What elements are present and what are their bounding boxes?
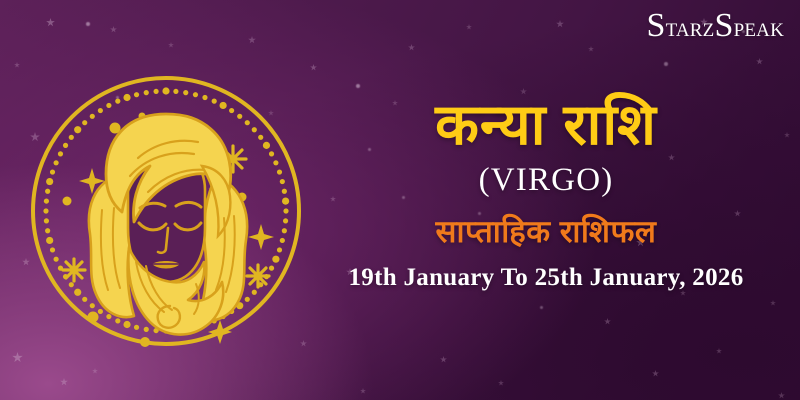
zodiac-title-hindi: कन्या राशि — [300, 96, 792, 156]
maiden-figure — [89, 114, 247, 335]
background-star — [408, 44, 415, 51]
background-star-dot — [356, 84, 360, 88]
background-star-dot — [540, 306, 543, 309]
background-star — [588, 46, 594, 52]
virgo-maiden-icon — [30, 70, 302, 352]
background-star-dot — [664, 62, 668, 66]
headline-block: कन्या राशि (VIRGO) साप्ताहिक राशिफल 19th… — [300, 96, 792, 292]
background-star — [14, 62, 20, 68]
background-star — [22, 258, 30, 266]
background-star — [310, 64, 317, 71]
background-star — [498, 380, 504, 386]
background-star-dot — [86, 22, 90, 26]
logo-s2: S — [714, 7, 733, 44]
background-star — [716, 348, 722, 354]
background-star — [556, 20, 564, 28]
zodiac-title-english: (VIRGO) — [300, 162, 792, 199]
background-star — [756, 58, 763, 65]
logo-s1: S — [646, 7, 665, 44]
background-star — [778, 392, 785, 399]
background-star — [652, 370, 659, 377]
background-star — [46, 18, 55, 27]
horoscope-banner: StarzSpeak कन्या राशि (VIRGO) साप्ताहिक … — [0, 0, 800, 400]
brand-logo[interactable]: StarzSpeak — [646, 7, 784, 45]
background-star — [466, 24, 472, 30]
date-range: 19th January To 25th January, 2026 — [300, 264, 792, 292]
background-star — [12, 352, 23, 363]
horoscope-subtitle-hindi: साप्ताहिक राशिफल — [300, 210, 792, 252]
background-star — [360, 388, 366, 394]
background-star — [110, 26, 117, 33]
background-star — [248, 36, 256, 44]
virgo-emblem — [30, 70, 302, 352]
background-star — [770, 300, 776, 306]
background-star — [440, 356, 447, 363]
background-star — [60, 378, 68, 386]
background-star — [168, 42, 174, 48]
background-star — [604, 318, 611, 325]
logo-tarz: tarz — [666, 12, 715, 42]
logo-peak: peak — [734, 12, 784, 42]
background-star — [92, 368, 98, 374]
